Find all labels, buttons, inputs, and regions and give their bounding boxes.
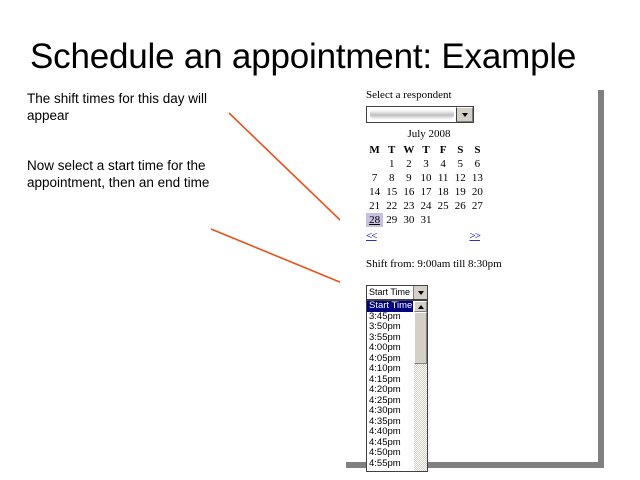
calendar-day[interactable]: 15 <box>383 185 400 199</box>
annotation-callout-shift-times: The shift times for this day will appear <box>27 90 242 124</box>
calendar-day[interactable]: 10 <box>417 171 434 185</box>
calendar-day[interactable]: 16 <box>400 185 417 199</box>
calendar-day[interactable]: 8 <box>383 171 400 185</box>
respondent-dropdown-button[interactable] <box>456 107 473 122</box>
calendar-day[interactable]: 19 <box>452 185 469 199</box>
start-time-dropdown-button[interactable] <box>413 286 427 299</box>
calendar-day[interactable] <box>469 213 486 227</box>
respondent-select[interactable] <box>366 106 474 123</box>
calendar-day[interactable]: 29 <box>383 213 400 227</box>
calendar-week-row: 7 8 9 10 11 12 13 <box>366 171 486 185</box>
calendar-weekday: M <box>366 142 383 157</box>
calendar-week-row: 1 2 3 4 5 6 <box>366 157 486 171</box>
start-time-option[interactable]: Start Time <box>367 301 413 312</box>
calendar-day[interactable] <box>435 213 452 227</box>
calendar-day[interactable]: 22 <box>383 199 400 213</box>
calendar-week-row: 28 29 30 31 <box>366 213 486 227</box>
embedded-app-screenshot: Select a respondent July 2008 M T W T F … <box>340 84 598 462</box>
annotation-callout-select-start-time: Now select a start time for the appointm… <box>27 157 242 191</box>
calendar-day[interactable]: 17 <box>417 185 434 199</box>
start-time-option[interactable]: 4:30pm <box>367 406 413 417</box>
calendar-weekday: W <box>400 142 417 157</box>
calendar-day[interactable]: 25 <box>435 199 452 213</box>
start-time-option-list: Start Time 3:45pm 3:50pm 3:55pm 4:00pm 4… <box>367 301 413 471</box>
start-time-selected-value: Start Time <box>367 286 413 299</box>
shift-hours-text: Shift from: 9:00am till 8:30pm <box>366 258 502 270</box>
calendar-weekday: T <box>383 142 400 157</box>
start-time-option[interactable]: 3:50pm <box>367 322 413 333</box>
start-time-option[interactable]: 4:10pm <box>367 364 413 375</box>
scrollbar-thumb[interactable] <box>414 312 427 364</box>
calendar-day[interactable]: 2 <box>400 157 417 171</box>
start-time-option[interactable]: 4:55pm <box>367 459 413 470</box>
calendar-day[interactable]: 14 <box>366 185 383 199</box>
start-time-option[interactable]: 4:50pm <box>367 448 413 459</box>
calendar-day[interactable]: 6 <box>469 157 486 171</box>
calendar-week-row: 21 22 23 24 25 26 27 <box>366 199 486 213</box>
calendar-day[interactable]: 4 <box>435 157 452 171</box>
chevron-down-icon <box>462 113 468 117</box>
calendar-day[interactable]: 18 <box>435 185 452 199</box>
calendar-day[interactable]: 31 <box>417 213 434 227</box>
chevron-down-icon <box>418 291 424 295</box>
calendar-day[interactable] <box>366 157 383 171</box>
calendar-widget[interactable]: July 2008 M T W T F S S 1 2 3 <box>366 128 486 246</box>
scrollbar-up-button[interactable] <box>414 301 427 312</box>
respondent-label: Select a respondent <box>366 89 452 101</box>
calendar-day[interactable]: 13 <box>469 171 486 185</box>
respondent-selected-value <box>370 109 454 120</box>
calendar-prev-month-link[interactable]: << <box>366 230 377 242</box>
calendar-day[interactable]: 5 <box>452 157 469 171</box>
calendar-day[interactable] <box>452 213 469 227</box>
calendar-day[interactable]: 21 <box>366 199 383 213</box>
calendar-day[interactable]: 27 <box>469 199 486 213</box>
start-time-dropdown-list[interactable]: Start Time 3:45pm 3:50pm 3:55pm 4:00pm 4… <box>366 300 428 472</box>
calendar-navigation: << >> <box>366 230 486 246</box>
calendar-weekday: T <box>417 142 434 157</box>
calendar-day[interactable]: 3 <box>417 157 434 171</box>
start-time-option[interactable]: 4:20pm <box>367 385 413 396</box>
calendar-month-label: July 2008 <box>366 128 486 140</box>
calendar-day[interactable]: 7 <box>366 171 383 185</box>
calendar-day[interactable]: 24 <box>417 199 434 213</box>
start-time-select[interactable]: Start Time <box>366 285 428 300</box>
calendar-day-selected[interactable]: 28 <box>366 213 383 227</box>
calendar-day[interactable]: 30 <box>400 213 417 227</box>
calendar-day[interactable]: 1 <box>383 157 400 171</box>
calendar-week-row: 14 15 16 17 18 19 20 <box>366 185 486 199</box>
calendar-weekday: S <box>452 142 469 157</box>
calendar-day[interactable]: 23 <box>400 199 417 213</box>
calendar-day[interactable]: 26 <box>452 199 469 213</box>
calendar-weekday: F <box>435 142 452 157</box>
calendar-day[interactable]: 12 <box>452 171 469 185</box>
calendar-grid: M T W T F S S 1 2 3 4 5 6 <box>366 142 486 227</box>
page-title: Schedule an appointment: Example <box>30 36 610 78</box>
start-time-option[interactable]: 4:00pm <box>367 343 413 354</box>
calendar-weekday: S <box>469 142 486 157</box>
start-time-option[interactable]: 4:40pm <box>367 427 413 438</box>
chevron-up-icon <box>418 305 424 309</box>
calendar-weekday-row: M T W T F S S <box>366 142 486 157</box>
calendar-day[interactable]: 11 <box>435 171 452 185</box>
calendar-day[interactable]: 9 <box>400 171 417 185</box>
start-time-list-scrollbar[interactable] <box>413 301 427 471</box>
calendar-day[interactable]: 20 <box>469 185 486 199</box>
calendar-next-month-link[interactable]: >> <box>469 230 480 242</box>
